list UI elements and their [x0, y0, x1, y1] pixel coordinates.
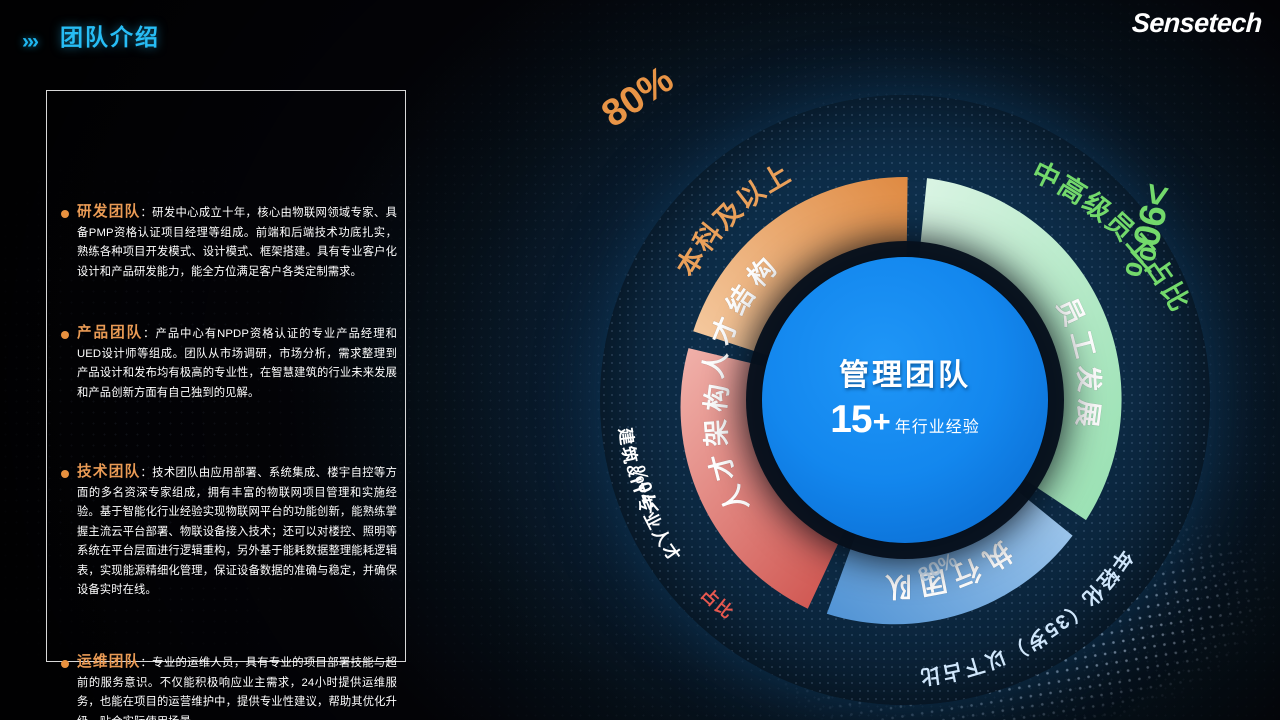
donut-chart: 人才结构 员工发展 执行团队 人才架构 本科及以上 中高级员工占比 年轻化（35… [540, 60, 1280, 720]
paragraph-text: 运维团队：专业的运维人员，具有专业的项目部署技能与超前的服务意识。不仅能积极响应… [77, 653, 397, 720]
list-item-lead: 技术团队 [77, 464, 140, 480]
center-number: 15 [830, 400, 871, 439]
paragraph-text: 产品团队：产品中心有NPDP资格认证的专业产品经理和UED设计师等组成。团队从市… [77, 324, 397, 403]
bullet-dot-icon [61, 470, 69, 478]
list-item-separator: ： [140, 467, 152, 479]
bullet-dot-icon [61, 210, 69, 218]
list-item: 运维团队：专业的运维人员，具有专业的项目部署技能与超前的服务意识。不仅能积极响应… [61, 653, 397, 720]
list-item-separator: ： [140, 207, 152, 219]
list-item: 产品团队：产品中心有NPDP资格认证的专业产品经理和UED设计师等组成。团队从市… [61, 324, 397, 403]
donut-center-hub: 管理团队 15 + 年行业经验 [762, 257, 1048, 543]
slide-header: ››› 团队介绍 Sensetech [0, 0, 1280, 62]
center-subtitle: 15 + 年行业经验 [830, 400, 980, 439]
paragraph-text: 技术团队：技术团队由应用部署、系统集成、楼宇自控等方面的多名资深专家组成，拥有丰… [77, 463, 397, 601]
center-plus-sign: + [873, 406, 891, 437]
center-unit: 年行业经验 [895, 420, 980, 436]
brand-logo: Sensetech [1132, 10, 1263, 37]
list-item-lead: 研发团队 [77, 204, 140, 220]
center-title: 管理团队 [839, 361, 971, 391]
paragraph-text: 研发团队：研发中心成立十年，核心由物联网领域专家、具备PMP资格认证项目经理等组… [77, 203, 397, 282]
list-item: 研发团队：研发中心成立十年，核心由物联网领域专家、具备PMP资格认证项目经理等组… [61, 203, 397, 282]
page-title: 团队介绍 [60, 26, 160, 49]
list-item-lead: 产品团队 [77, 325, 143, 341]
list-item-lead: 运维团队 [77, 654, 140, 670]
list-item-separator: ： [143, 328, 155, 340]
annotation-talent-architecture-suffix: 占比 [697, 584, 739, 624]
list-item-body: 技术团队由应用部署、系统集成、楼宇自控等方面的多名资深专家组成，拥有丰富的物联网… [77, 467, 397, 596]
bullet-dot-icon [61, 660, 69, 668]
list-item-separator: ： [140, 657, 152, 669]
team-description-panel: 研发团队：研发中心成立十年，核心由物联网领域专家、具备PMP资格认证项目经理等组… [46, 90, 406, 662]
list-item: 技术团队：技术团队由应用部署、系统集成、楼宇自控等方面的多名资深专家组成，拥有丰… [61, 463, 397, 601]
triple-chevron-right-icon: ››› [22, 31, 37, 52]
bullet-dot-icon [61, 331, 69, 339]
